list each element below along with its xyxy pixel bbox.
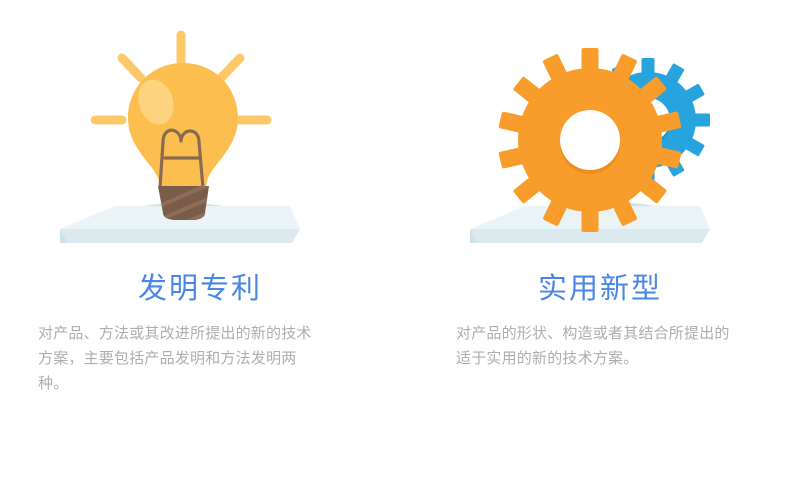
card-utility-model[interactable]: 实用新型 对产品的形状、构造或者其结合所提出的适于实用的新的技术方案。	[400, 0, 800, 481]
card-description: 对产品、方法或其改进所提出的新的技术方案，主要包括产品发明和方法发明两种。	[38, 321, 320, 396]
card-row: 发明专利 对产品、方法或其改进所提出的新的技术方案，主要包括产品发明和方法发明两…	[0, 0, 800, 481]
card-title: 实用新型	[400, 274, 800, 303]
lightbulb-on-pedestal-icon	[0, 0, 400, 250]
card-title: 发明专利	[0, 274, 400, 303]
gears-illustration	[400, 0, 800, 250]
bulb-glass-icon	[128, 63, 238, 188]
card-invention-patent[interactable]: 发明专利 对产品、方法或其改进所提出的新的技术方案，主要包括产品发明和方法发明两…	[0, 0, 400, 481]
gears-on-pedestal-icon	[400, 0, 800, 250]
patent-types-section: 发明专利 对产品、方法或其改进所提出的新的技术方案，主要包括产品发明和方法发明两…	[0, 0, 800, 481]
lightbulb-illustration	[0, 0, 400, 250]
card-description: 对产品的形状、构造或者其结合所提出的适于实用的新的技术方案。	[456, 321, 738, 371]
